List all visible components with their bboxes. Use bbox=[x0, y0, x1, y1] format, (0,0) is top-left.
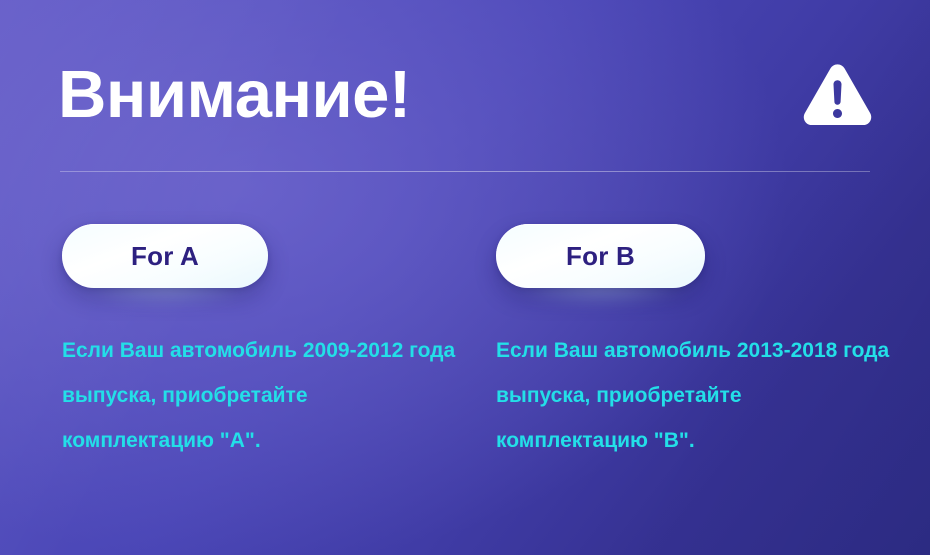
option-column-a: For A Если Ваш автомобиль 2009-2012 года… bbox=[62, 224, 462, 288]
for-a-button-label: For A bbox=[131, 243, 199, 269]
warning-triangle-icon bbox=[803, 63, 872, 125]
option-a-description: Если Ваш автомобиль 2009-2012 года выпус… bbox=[62, 328, 457, 463]
attention-banner: Внимание! For A Если Ваш автомобиль 2009… bbox=[0, 0, 930, 555]
option-b-description: Если Ваш автомобиль 2013-2018 года выпус… bbox=[496, 328, 891, 463]
for-b-button[interactable]: For B bbox=[496, 224, 705, 288]
option-column-b: For B Если Ваш автомобиль 2013-2018 года… bbox=[496, 224, 896, 288]
page-title: Внимание! bbox=[58, 56, 411, 134]
for-b-button-label: For B bbox=[566, 243, 635, 269]
header-divider bbox=[60, 171, 870, 172]
for-a-button-wrap: For A bbox=[62, 224, 268, 288]
for-a-button[interactable]: For A bbox=[62, 224, 268, 288]
for-b-button-wrap: For B bbox=[496, 224, 705, 288]
